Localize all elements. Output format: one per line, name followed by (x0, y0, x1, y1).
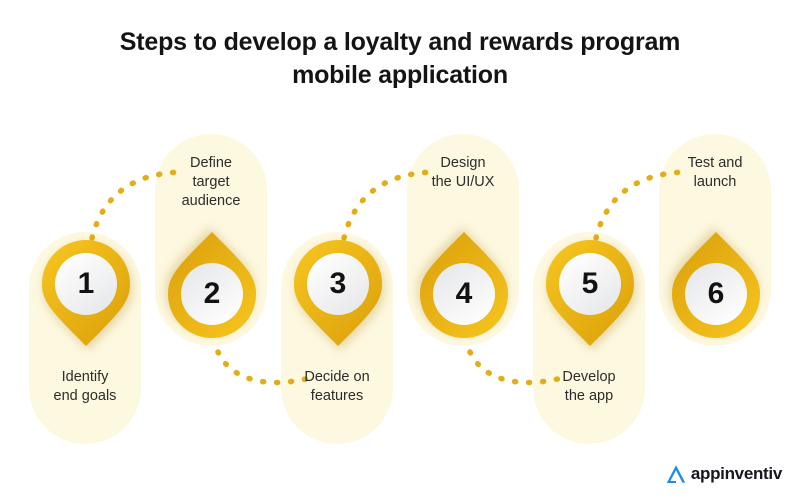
page-title: Steps to develop a loyalty and rewards p… (40, 26, 760, 92)
step-3-number-wrap: 3 (294, 240, 382, 328)
step-2-number-wrap: 2 (168, 250, 256, 338)
step-5[interactable]: 5 Develop the app (526, 120, 652, 460)
logo-wordmark: appinventiv (691, 464, 782, 484)
triangle-a-icon (664, 462, 688, 486)
step-2-number: 2 (204, 279, 221, 309)
step-6-number-wrap: 6 (672, 250, 760, 338)
step-1[interactable]: 1 Identify end goals (22, 120, 148, 460)
step-2-label: Define target audience (148, 154, 274, 211)
step-3-label: Decide on features (274, 368, 400, 406)
step-6-label: Test and launch (652, 154, 778, 192)
step-4-number: 4 (456, 279, 473, 309)
step-1-number: 1 (78, 269, 95, 299)
step-2[interactable]: 2 Define target audience (148, 120, 274, 460)
title-line-1: Steps to develop a loyalty and rewards p… (120, 28, 680, 56)
step-6-number: 6 (708, 279, 725, 309)
step-5-number-wrap: 5 (546, 240, 634, 328)
step-4[interactable]: 4 Design the UI/UX (400, 120, 526, 460)
step-3[interactable]: 3 Decide on features (274, 120, 400, 460)
step-6[interactable]: 6 Test and launch (652, 120, 778, 460)
steps-row: 1 Identify end goals 2 Define target aud… (0, 120, 800, 460)
step-5-number: 5 (582, 269, 599, 299)
step-1-label: Identify end goals (22, 368, 148, 406)
step-4-label: Design the UI/UX (400, 154, 526, 192)
appinventiv-logo[interactable]: appinventiv (664, 462, 782, 486)
step-4-number-wrap: 4 (420, 250, 508, 338)
title-line-2: mobile application (40, 59, 760, 92)
step-3-number: 3 (330, 269, 347, 299)
step-1-number-wrap: 1 (42, 240, 130, 328)
infographic-canvas: Steps to develop a loyalty and rewards p… (0, 0, 800, 500)
step-5-label: Develop the app (526, 368, 652, 406)
